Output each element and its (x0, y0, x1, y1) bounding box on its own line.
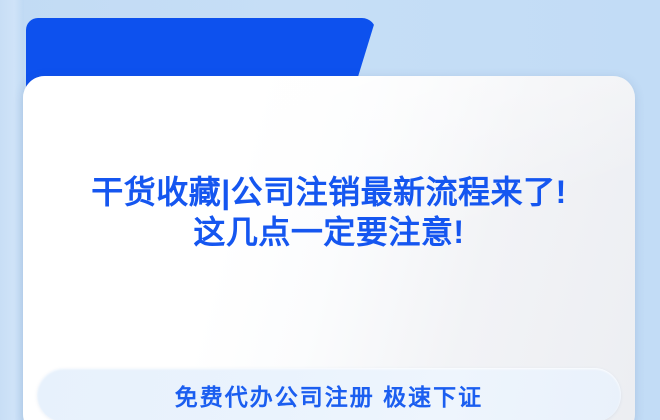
corner-ribbon: 不成功 不收费 (401, 0, 660, 32)
headline-line-1: 干货收藏|公司注销最新流程来了! (23, 172, 635, 212)
poster-canvas: 干货收藏|公司注销最新流程来了! 这几点一定要注意! 免费代办公司注册 极速下证… (0, 0, 660, 420)
content-card: 干货收藏|公司注销最新流程来了! 这几点一定要注意! 免费代办公司注册 极速下证 (23, 76, 635, 420)
background-left-band (0, 0, 24, 420)
cta-banner[interactable]: 免费代办公司注册 极速下证 (37, 368, 621, 420)
headline-block: 干货收藏|公司注销最新流程来了! 这几点一定要注意! (23, 172, 635, 253)
headline-line-2: 这几点一定要注意! (23, 212, 635, 252)
cta-banner-label: 免费代办公司注册 极速下证 (175, 378, 483, 412)
